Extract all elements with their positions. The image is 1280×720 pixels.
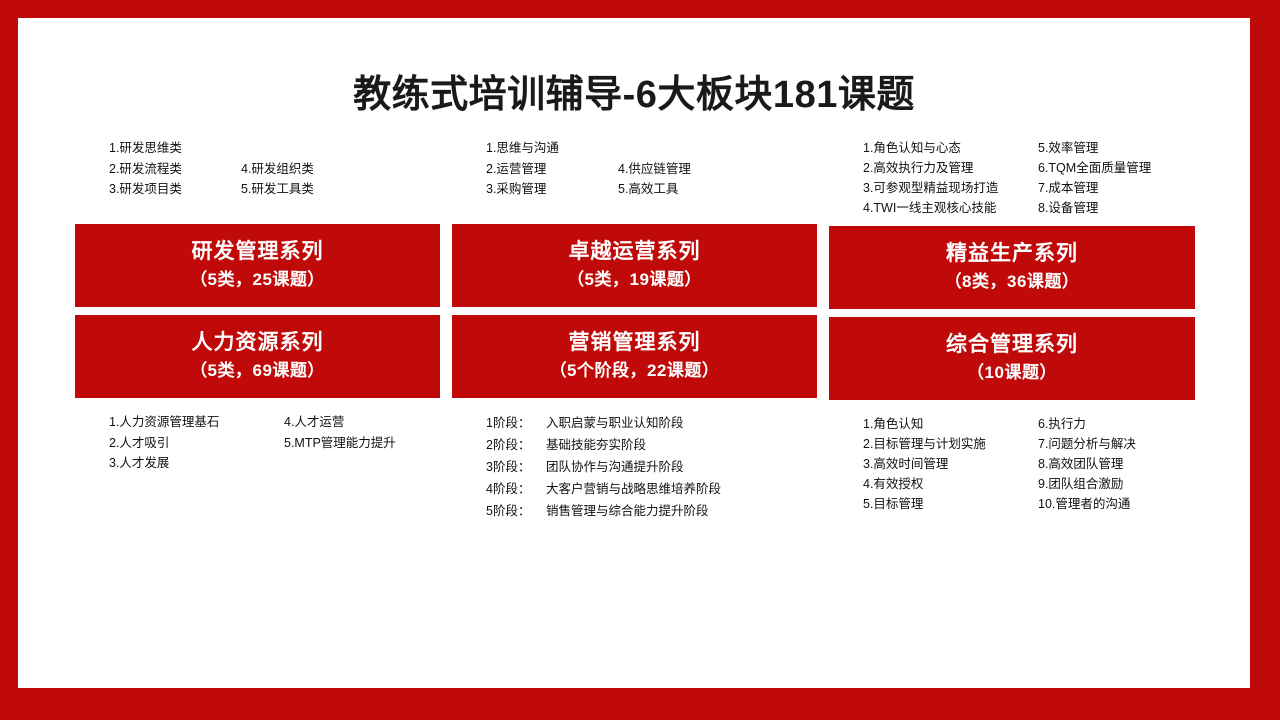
list-item: 1阶段： 入职启蒙与职业认知阶段 xyxy=(486,412,721,434)
detail-col-left: 1.思维与沟通 2.运营管理 3.采购管理 xyxy=(486,138,618,200)
list-item: 4.人才运营 xyxy=(284,412,440,433)
phase-text: 基础技能夯实阶段 xyxy=(546,434,646,456)
list-item: 2.高效执行力及管理 xyxy=(863,158,1038,178)
phase-text: 大客户营销与战略思维培养阶段 xyxy=(546,478,721,500)
banner-title: 人力资源系列 xyxy=(79,328,436,358)
list-item: 5.效率管理 xyxy=(1038,138,1195,158)
list-item: 5.研发工具类 xyxy=(241,179,426,200)
list-item: 8.高效团队管理 xyxy=(1038,454,1195,474)
detail-list-operations-top: 1.思维与沟通 2.运营管理 3.采购管理 4.供应链管理 5.高效工具 xyxy=(452,138,817,224)
phase-label: 5阶段： xyxy=(486,500,546,522)
banner-subtitle: （5类，19课题） xyxy=(456,267,813,293)
list-item: 2.人才吸引 xyxy=(109,433,284,454)
list-item: 2.研发流程类 xyxy=(109,159,241,180)
detail-col-right: 4.人才运营 5.MTP管理能力提升 xyxy=(284,412,440,474)
board-column-operations-marketing: 1.思维与沟通 2.运营管理 3.采购管理 4.供应链管理 5.高效工具 卓越运… xyxy=(452,138,817,522)
detail-col-left: 1.人力资源管理基石 2.人才吸引 3.人才发展 xyxy=(109,412,284,474)
list-item: 5阶段： 销售管理与综合能力提升阶段 xyxy=(486,500,721,522)
list-item: 6.TQM全面质量管理 xyxy=(1038,158,1195,178)
list-item: 2.运营管理 xyxy=(486,159,618,180)
detail-list-marketing-phases: 1阶段： 入职启蒙与职业认知阶段 2阶段： 基础技能夯实阶段 3阶段： 团队协作… xyxy=(452,398,817,522)
phase-text: 入职启蒙与职业认知阶段 xyxy=(546,412,684,434)
list-item: 3.高效时间管理 xyxy=(863,454,1038,474)
list-item xyxy=(241,138,426,159)
page-title: 教练式培训辅导-6大板块181课题 xyxy=(18,63,1250,118)
list-item: 3.人才发展 xyxy=(109,453,284,474)
phase-label: 4阶段： xyxy=(486,478,546,500)
detail-col-left: 1.角色认知 2.目标管理与计划实施 3.高效时间管理 4.有效授权 5.目标管… xyxy=(863,414,1038,514)
banner-subtitle: （5类，25课题） xyxy=(79,267,436,293)
banner-subtitle: （8类，36课题） xyxy=(833,269,1191,295)
banner-title: 精益生产系列 xyxy=(833,239,1191,269)
banner-human-resources[interactable]: 人力资源系列 （5类，69课题） xyxy=(75,315,440,398)
board-column-lean-general: 1.角色认知与心态 2.高效执行力及管理 3.可参观型精益现场打造 4.TWI一… xyxy=(829,138,1195,522)
banner-rd-management[interactable]: 研发管理系列 （5类，25课题） xyxy=(75,224,440,307)
list-item: 3.研发项目类 xyxy=(109,179,241,200)
detail-list-general-bottom: 1.角色认知 2.目标管理与计划实施 3.高效时间管理 4.有效授权 5.目标管… xyxy=(829,400,1195,514)
phase-label: 2阶段： xyxy=(486,434,546,456)
banner-subtitle: （5个阶段，22课题） xyxy=(456,358,813,384)
list-item: 1.研发思维类 xyxy=(109,138,241,159)
list-item: 9.团队组合激励 xyxy=(1038,474,1195,494)
list-item: 7.成本管理 xyxy=(1038,178,1195,198)
banner-subtitle: （10课题） xyxy=(833,360,1191,386)
detail-col-left: 1.研发思维类 2.研发流程类 3.研发项目类 xyxy=(109,138,241,200)
detail-col-right: 4.供应链管理 5.高效工具 xyxy=(618,138,803,200)
detail-col-right: 4.研发组织类 5.研发工具类 xyxy=(241,138,426,200)
banner-excellent-operations[interactable]: 卓越运营系列 （5类，19课题） xyxy=(452,224,817,307)
list-item: 1.思维与沟通 xyxy=(486,138,618,159)
list-item: 1.角色认知与心态 xyxy=(863,138,1038,158)
detail-col-left: 1.角色认知与心态 2.高效执行力及管理 3.可参观型精益现场打造 4.TWI一… xyxy=(863,138,1038,218)
list-item: 4.有效授权 xyxy=(863,474,1038,494)
list-item xyxy=(618,138,803,159)
list-item: 3阶段： 团队协作与沟通提升阶段 xyxy=(486,456,721,478)
list-item: 3.采购管理 xyxy=(486,179,618,200)
list-item: 2阶段： 基础技能夯实阶段 xyxy=(486,434,721,456)
detail-col-right: 6.执行力 7.问题分析与解决 8.高效团队管理 9.团队组合激励 10.管理者… xyxy=(1038,414,1195,514)
detail-list-hr-bottom: 1.人力资源管理基石 2.人才吸引 3.人才发展 4.人才运营 5.MTP管理能… xyxy=(75,398,440,474)
banner-lean-production[interactable]: 精益生产系列 （8类，36课题） xyxy=(829,226,1195,309)
list-item: 7.问题分析与解决 xyxy=(1038,434,1195,454)
list-item: 4阶段： 大客户营销与战略思维培养阶段 xyxy=(486,478,721,500)
banner-marketing-management[interactable]: 营销管理系列 （5个阶段，22课题） xyxy=(452,315,817,398)
list-item: 4.TWI一线主观核心技能 xyxy=(863,198,1038,218)
board-column-rd-hr: 1.研发思维类 2.研发流程类 3.研发项目类 4.研发组织类 5.研发工具类 … xyxy=(75,138,440,522)
slide-red-frame: 教练式培训辅导-6大板块181课题 1.研发思维类 2.研发流程类 3.研发项目… xyxy=(0,0,1280,720)
banner-subtitle: （5类，69课题） xyxy=(79,358,436,384)
list-item: 10.管理者的沟通 xyxy=(1038,494,1195,514)
board-grid: 1.研发思维类 2.研发流程类 3.研发项目类 4.研发组织类 5.研发工具类 … xyxy=(75,138,1195,522)
list-item: 4.研发组织类 xyxy=(241,159,426,180)
banner-title: 综合管理系列 xyxy=(833,330,1191,360)
banner-title: 营销管理系列 xyxy=(456,328,813,358)
list-item: 6.执行力 xyxy=(1038,414,1195,434)
list-item: 5.目标管理 xyxy=(863,494,1038,514)
list-item: 5.MTP管理能力提升 xyxy=(284,433,440,454)
detail-list-rd-top: 1.研发思维类 2.研发流程类 3.研发项目类 4.研发组织类 5.研发工具类 xyxy=(75,138,440,224)
phase-text: 团队协作与沟通提升阶段 xyxy=(546,456,684,478)
phase-text: 销售管理与综合能力提升阶段 xyxy=(546,500,709,522)
banner-general-management[interactable]: 综合管理系列 （10课题） xyxy=(829,317,1195,400)
list-item: 3.可参观型精益现场打造 xyxy=(863,178,1038,198)
list-item: 1.角色认知 xyxy=(863,414,1038,434)
list-item: 4.供应链管理 xyxy=(618,159,803,180)
banner-title: 研发管理系列 xyxy=(79,237,436,267)
phase-label: 3阶段： xyxy=(486,456,546,478)
banner-title: 卓越运营系列 xyxy=(456,237,813,267)
phase-label: 1阶段： xyxy=(486,412,546,434)
list-item: 2.目标管理与计划实施 xyxy=(863,434,1038,454)
detail-list-lean-top: 1.角色认知与心态 2.高效执行力及管理 3.可参观型精益现场打造 4.TWI一… xyxy=(829,138,1195,226)
list-item: 5.高效工具 xyxy=(618,179,803,200)
list-item: 1.人力资源管理基石 xyxy=(109,412,284,433)
slide-canvas: 教练式培训辅导-6大板块181课题 1.研发思维类 2.研发流程类 3.研发项目… xyxy=(18,18,1250,688)
detail-col-right: 5.效率管理 6.TQM全面质量管理 7.成本管理 8.设备管理 xyxy=(1038,138,1195,218)
list-item: 8.设备管理 xyxy=(1038,198,1195,218)
